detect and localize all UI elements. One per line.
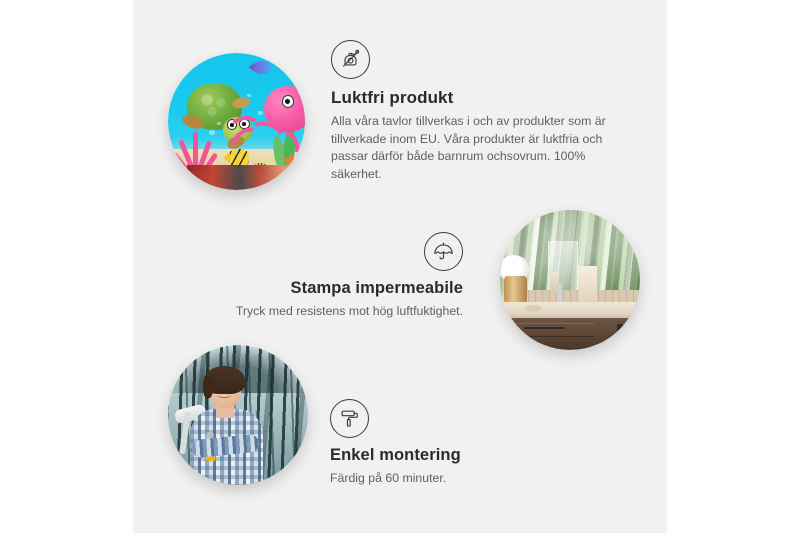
painter-scene <box>168 345 308 485</box>
photo-strip <box>187 165 305 190</box>
sea-scene <box>168 53 305 190</box>
drawer-handle <box>524 327 564 329</box>
countertop <box>500 302 640 319</box>
product-image-bathroom <box>500 210 640 350</box>
bubble <box>258 111 262 115</box>
feature-body: Färdig på 60 minuter. <box>330 470 580 488</box>
blue-fish <box>253 61 271 73</box>
feature-title: Stampa impermeabile <box>213 279 463 298</box>
product-image-painter <box>168 345 308 485</box>
decor-box <box>578 266 596 302</box>
bathroom-scene <box>500 210 640 350</box>
feature-waterproof: Stampa impermeabile Tryck med resistens … <box>213 232 463 321</box>
product-feature-banner: Luktfri produkt Alla våra tavlor tillver… <box>0 0 800 533</box>
product-image-sea <box>168 53 305 190</box>
soap-dish <box>525 305 540 312</box>
umbrella-icon <box>424 232 463 271</box>
bubble <box>209 130 214 135</box>
feature-title: Luktfri produkt <box>331 88 617 108</box>
feature-body: Alla våra tavlor tillverkas i och av pro… <box>331 113 617 183</box>
bubble <box>217 122 221 126</box>
feature-title: Enkel montering <box>330 446 580 465</box>
faucet <box>557 283 561 303</box>
yellow-fish <box>228 149 249 167</box>
feature-odourless: Luktfri produkt Alla våra tavlor tillver… <box>331 40 617 183</box>
vanity-cabinet <box>506 318 640 350</box>
octopus-eye <box>282 95 294 107</box>
woman-hair <box>203 376 213 398</box>
no-odour-icon <box>331 40 370 79</box>
woman-smile <box>217 391 231 398</box>
paint-roller-icon <box>330 399 369 438</box>
cabinet-handle <box>617 324 622 341</box>
feature-body: Tryck med resistens mot hög luftfuktighe… <box>213 303 463 321</box>
drawer <box>514 323 595 337</box>
feature-install: Enkel montering Färdig på 60 minuter. <box>330 399 580 488</box>
